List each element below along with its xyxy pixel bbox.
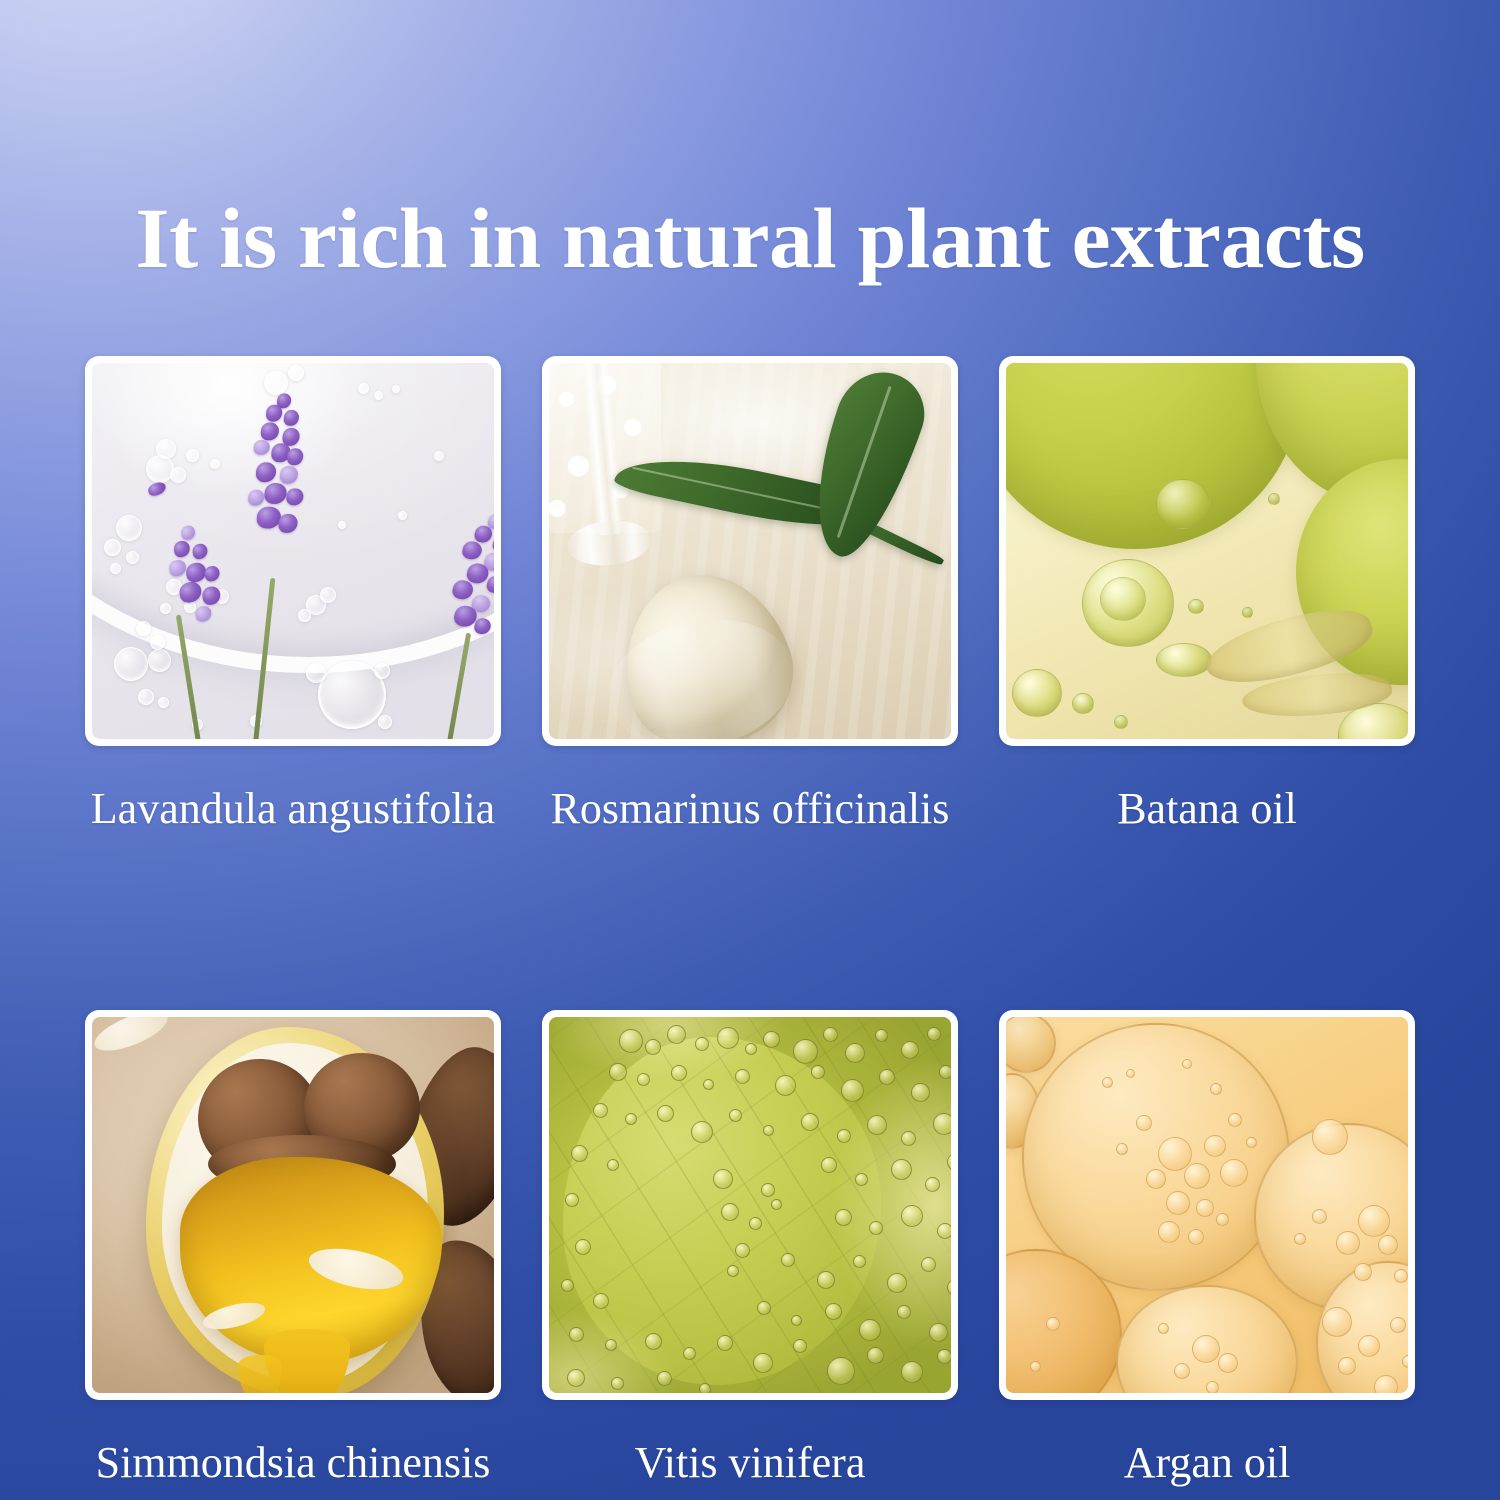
- ingredient-thumbnail-frame: [542, 356, 958, 746]
- grapeseed-photo: [549, 1017, 951, 1393]
- ingredient-thumbnail-frame: [999, 1010, 1415, 1400]
- argan-oil-photo: [1006, 1017, 1408, 1393]
- ingredient-card-batana-oil[interactable]: Batana oil: [999, 356, 1415, 835]
- ingredient-thumbnail-frame: [85, 356, 501, 746]
- batana-oil-photo: [1006, 363, 1408, 739]
- ingredient-caption: Rosmarinus officinalis: [542, 782, 958, 835]
- jojoba-photo: [92, 1017, 494, 1393]
- lavender-photo: [92, 363, 494, 739]
- page-title: It is rich in natural plant extracts: [0, 190, 1500, 286]
- ingredient-poster: It is rich in natural plant extracts: [0, 0, 1500, 1500]
- ingredient-card-lavandula-angustifolia[interactable]: Lavandula angustifolia: [85, 356, 501, 835]
- ingredient-card-vitis-vinifera[interactable]: Vitis vinifera: [542, 1010, 958, 1489]
- ingredient-card-rosmarinus-officinalis[interactable]: Rosmarinus officinalis: [542, 356, 958, 835]
- ingredient-grid: Lavandula angustifolia: [85, 356, 1415, 1489]
- ingredient-caption: Vitis vinifera: [542, 1436, 958, 1489]
- rosemary-photo: [549, 363, 951, 739]
- ingredient-card-simmondsia-chinensis[interactable]: Simmondsia chinensis: [85, 1010, 501, 1489]
- ingredient-thumbnail-frame: [542, 1010, 958, 1400]
- ingredient-caption: Simmondsia chinensis: [85, 1436, 501, 1489]
- ingredient-thumbnail-frame: [999, 356, 1415, 746]
- ingredient-caption: Argan oil: [999, 1436, 1415, 1489]
- ingredient-card-argan-oil[interactable]: Argan oil: [999, 1010, 1415, 1489]
- ingredient-caption: Batana oil: [999, 782, 1415, 835]
- ingredient-caption: Lavandula angustifolia: [85, 782, 501, 835]
- ingredient-thumbnail-frame: [85, 1010, 501, 1400]
